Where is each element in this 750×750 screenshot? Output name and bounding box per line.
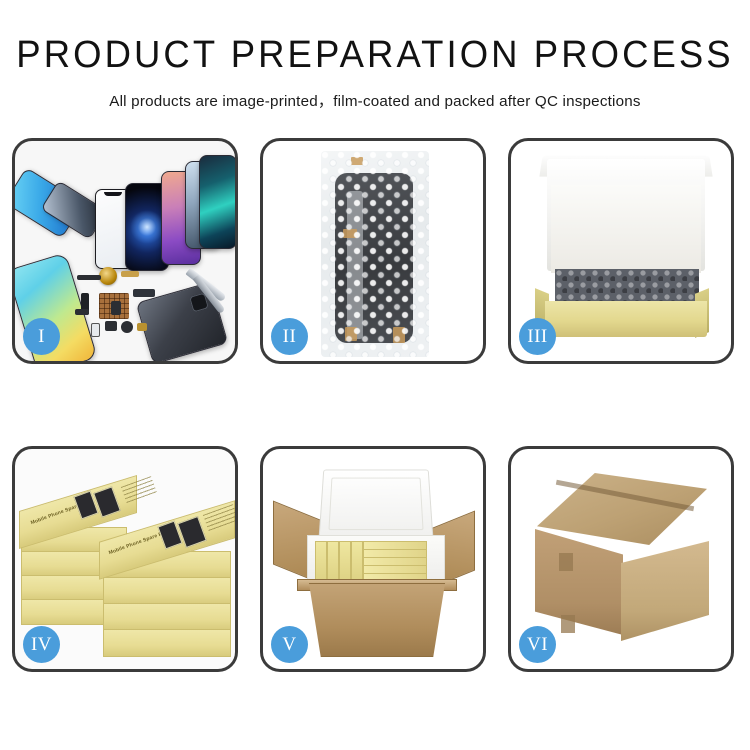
step-badge-6: VI: [519, 626, 556, 663]
teal-gradient-phone: [199, 155, 235, 249]
small-part-4: [137, 323, 147, 331]
bubble-texture: [321, 151, 429, 357]
flex-cable-2: [133, 289, 155, 297]
gold-flex-part: [121, 271, 139, 277]
step-badge-5: V: [271, 626, 308, 663]
step-panel-5: V: [260, 446, 486, 672]
box-front-panel: [545, 301, 707, 337]
copper-coil-part: [99, 267, 117, 285]
page-subtitle: All products are image-printed，film-coat…: [0, 89, 750, 111]
step-panel-6: VI: [508, 446, 734, 672]
small-part-6: [111, 301, 121, 315]
carton-tape-lower: [561, 615, 575, 633]
stacked-box-r4: [103, 629, 231, 657]
process-steps-grid: I II: [12, 138, 738, 672]
carton-body: [303, 583, 451, 657]
step-badge-4: IV: [23, 626, 60, 663]
step-panel-1: I: [12, 138, 238, 364]
foam-sheet: [551, 185, 701, 273]
inner-box-3: [339, 541, 351, 583]
step-panel-2: II: [260, 138, 486, 364]
product-preparation-infographic: PRODUCT PREPARATION PROCESS All products…: [0, 0, 750, 750]
carton-tape-upper: [559, 553, 573, 571]
small-part-2: [91, 323, 100, 337]
step-badge-2: II: [271, 318, 308, 355]
step-badge-1: I: [23, 318, 60, 355]
inner-boxes-group: [315, 541, 435, 581]
small-part-5: [75, 309, 89, 315]
bubble-wrap-bag: [321, 151, 429, 357]
inner-box-1: [315, 541, 327, 583]
carton-left-face: [535, 529, 623, 635]
stacked-box-r3: [103, 603, 231, 631]
step-panel-4: Mobile Phone Spare Parts Mobile Phone Sp…: [12, 446, 238, 672]
page-title: PRODUCT PREPARATION PROCESS: [15, 36, 735, 74]
foam-lid: [318, 470, 433, 540]
step-badge-3: III: [519, 318, 556, 355]
carton-right-face: [621, 541, 709, 641]
small-part-3: [105, 321, 117, 331]
bubble-wrap-contents: [555, 269, 699, 305]
speaker-part: [121, 321, 133, 333]
inner-box-2: [327, 541, 339, 583]
stacked-box-r2: [103, 577, 231, 605]
inner-box-4: [351, 541, 363, 583]
header: PRODUCT PREPARATION PROCESS All products…: [0, 0, 750, 111]
small-part-1: [77, 275, 101, 280]
step-panel-3: III: [508, 138, 734, 364]
